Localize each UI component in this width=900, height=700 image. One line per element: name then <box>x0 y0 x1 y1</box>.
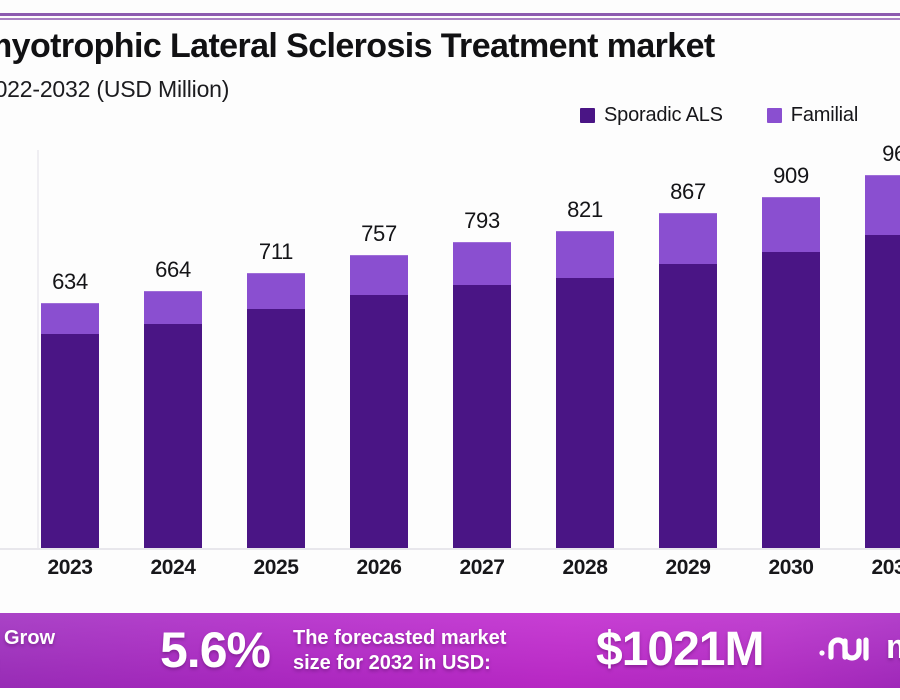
chart-subtitle: 2022-2032 (USD Million) <box>0 74 229 104</box>
bottom-banner: t will Grow R of: 5.6% The forecasted ma… <box>0 613 900 688</box>
x-axis-label-2025: 2025 <box>247 556 305 580</box>
legend-label: Sporadic ALS <box>604 104 723 126</box>
x-axis-label-2027: 2027 <box>453 556 511 580</box>
bar-2025[interactable] <box>247 273 305 548</box>
bar-segment-familial <box>350 255 408 295</box>
bar-segment-familial <box>144 291 202 324</box>
bar-segment-familial <box>41 303 99 334</box>
bar-2028[interactable] <box>556 231 614 548</box>
bar-value-label-2023: 634 <box>52 269 88 295</box>
bar-segment-familial <box>247 273 305 309</box>
forecast-label-line1: The forecasted market <box>293 626 583 651</box>
bar-segment-sporadic <box>144 324 202 548</box>
forecast-label-line2: size for 2032 in USD: <box>293 651 583 676</box>
infographic-frame: myotrophic Lateral Sclerosis Treatment m… <box>0 0 900 700</box>
cagr-value: 5.6% <box>160 619 270 681</box>
bar-2031[interactable] <box>865 175 900 548</box>
legend-swatch-icon <box>767 108 782 123</box>
legend-label: Familial <box>791 104 858 126</box>
bar-value-label-2026: 757 <box>361 221 397 247</box>
cagr-label: t will Grow R of: <box>0 626 184 676</box>
chart-legend: Sporadic ALSFamilial <box>580 104 858 126</box>
bar-value-label-2029: 867 <box>670 179 706 205</box>
bar-2027[interactable] <box>453 242 511 548</box>
bar-segment-familial <box>453 242 511 285</box>
chart-baseline <box>0 548 900 550</box>
bar-value-label-2025: 711 <box>259 239 293 265</box>
bar-segment-sporadic <box>453 285 511 548</box>
bar-2026[interactable] <box>350 255 408 548</box>
top-accent-rule <box>0 13 900 16</box>
cagr-label-line1: t will Grow <box>0 626 184 651</box>
plot-left-edge <box>37 150 39 550</box>
chart-plot-area: 63466471175779382186790996 <box>0 150 900 550</box>
bar-segment-sporadic <box>350 295 408 548</box>
bar-segment-familial <box>762 197 820 252</box>
x-axis-label-2026: 2026 <box>350 556 408 580</box>
legend-item-2[interactable]: Familial <box>767 104 858 126</box>
x-axis-ticks: 202320242025202620272028202920302031 <box>0 556 900 590</box>
x-axis-label-2030: 2030 <box>762 556 820 580</box>
bar-value-label-2024: 664 <box>155 257 191 283</box>
wave-logo-icon <box>818 627 880 667</box>
x-axis-label-2024: 2024 <box>144 556 202 580</box>
bar-segment-sporadic <box>865 235 900 548</box>
top-accent-rule-secondary <box>0 18 900 20</box>
bar-segment-sporadic <box>41 334 99 548</box>
cagr-label-line2: R of: <box>0 651 184 676</box>
page-title: myotrophic Lateral Sclerosis Treatment m… <box>0 26 715 66</box>
bar-segment-sporadic <box>556 278 614 548</box>
legend-swatch-icon <box>580 108 595 123</box>
bar-segment-sporadic <box>762 252 820 548</box>
bar-segment-sporadic <box>247 309 305 548</box>
bar-value-label-2030: 909 <box>773 163 809 189</box>
bar-value-label-2027: 793 <box>464 208 500 234</box>
bar-value-label-2028: 821 <box>567 197 603 223</box>
bar-2030[interactable] <box>762 197 820 548</box>
x-axis-label-2023: 2023 <box>41 556 99 580</box>
x-axis-label-2028: 2028 <box>556 556 614 580</box>
bar-segment-familial <box>865 175 900 235</box>
bar-2024[interactable] <box>144 291 202 548</box>
x-axis-label-2029: 2029 <box>659 556 717 580</box>
bar-segment-familial <box>556 231 614 278</box>
banner-bottom-strip <box>0 688 900 700</box>
brand-logo: m <box>818 627 900 667</box>
bar-segment-sporadic <box>659 264 717 548</box>
bar-2023[interactable] <box>41 303 99 548</box>
x-axis-label-2031: 2031 <box>865 556 900 580</box>
forecast-value: $1021M <box>596 619 763 681</box>
bar-segment-familial <box>659 213 717 264</box>
legend-item-1[interactable]: Sporadic ALS <box>580 104 723 126</box>
bar-value-label-2031: 96 <box>882 141 900 167</box>
forecast-label: The forecasted market size for 2032 in U… <box>293 626 583 676</box>
bar-2029[interactable] <box>659 213 717 548</box>
brand-name: m <box>886 628 900 666</box>
